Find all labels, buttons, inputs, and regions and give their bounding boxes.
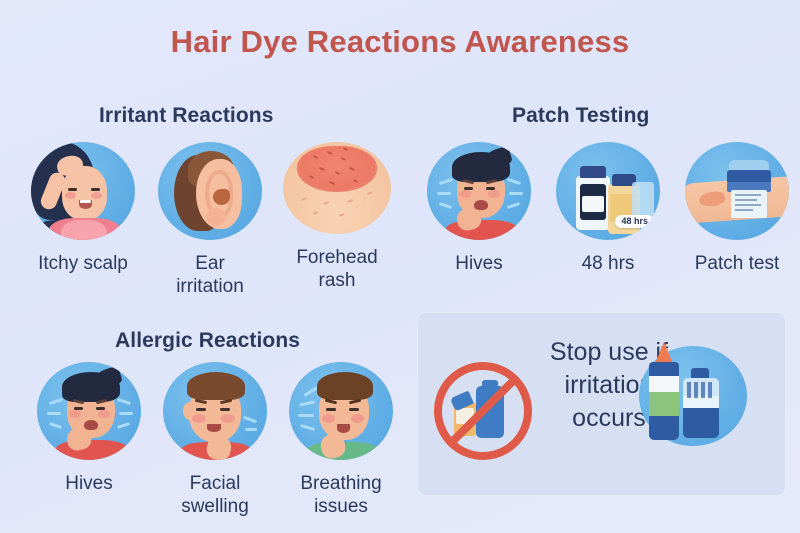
item-hives-patch[interactable]: Hives bbox=[420, 142, 538, 275]
section-heading-patch-testing: Patch Testing bbox=[512, 104, 649, 128]
infographic-poster: Hair Dye Reactions Awareness Irritant Re… bbox=[0, 0, 800, 533]
breathing-issues-icon bbox=[289, 362, 393, 460]
patch-test-icon bbox=[685, 142, 789, 240]
item-label: 48 hrs bbox=[582, 252, 635, 275]
item-hives-allergic[interactable]: Hives bbox=[30, 362, 148, 495]
duration-badge: 48 hrs bbox=[615, 215, 654, 228]
item-label: Ear irritation bbox=[176, 252, 244, 298]
no-entry-icon bbox=[434, 362, 532, 460]
section-heading-allergic: Allergic Reactions bbox=[115, 329, 300, 353]
item-label: Patch test bbox=[695, 252, 780, 275]
hives-icon bbox=[37, 362, 141, 460]
dye-bottles-art bbox=[629, 334, 759, 452]
item-breathing-issues[interactable]: Breathing issues bbox=[282, 362, 400, 518]
item-label: Itchy scalp bbox=[38, 252, 128, 275]
item-label: Hives bbox=[455, 252, 503, 275]
ear-irritation-icon bbox=[158, 142, 262, 240]
section-items-irritant: Itchy scalp Ear irritation bbox=[24, 142, 396, 298]
item-ear-irritation[interactable]: Ear irritation bbox=[151, 142, 269, 298]
item-label: Breathing issues bbox=[300, 472, 381, 518]
itchy-scalp-icon bbox=[31, 142, 135, 240]
facial-swelling-icon bbox=[163, 362, 267, 460]
forehead-rash-icon bbox=[283, 142, 391, 234]
item-patch-test[interactable]: Patch test bbox=[678, 142, 796, 275]
bottles-icon: 48 hrs bbox=[556, 142, 660, 240]
item-forehead-rash[interactable]: Forehead rash bbox=[278, 142, 396, 292]
section-heading-irritant: Irritant Reactions bbox=[99, 104, 274, 128]
item-label: Forehead rash bbox=[296, 246, 377, 292]
stop-use-callout: Stop use if irritation occurs bbox=[417, 312, 786, 496]
page-title: Hair Dye Reactions Awareness bbox=[0, 24, 800, 60]
item-itchy-scalp[interactable]: Itchy scalp bbox=[24, 142, 142, 275]
item-label: Hives bbox=[65, 472, 113, 495]
section-items-allergic: Hives Facial swelling bbox=[30, 362, 400, 518]
item-label: Facial swelling bbox=[181, 472, 249, 518]
item-48-hrs[interactable]: 48 hrs 48 hrs bbox=[549, 142, 667, 275]
section-items-patch-testing: Hives 48 hrs 48 hrs bbox=[420, 142, 796, 275]
item-facial-swelling[interactable]: Facial swelling bbox=[156, 362, 274, 518]
hives-icon bbox=[427, 142, 531, 240]
